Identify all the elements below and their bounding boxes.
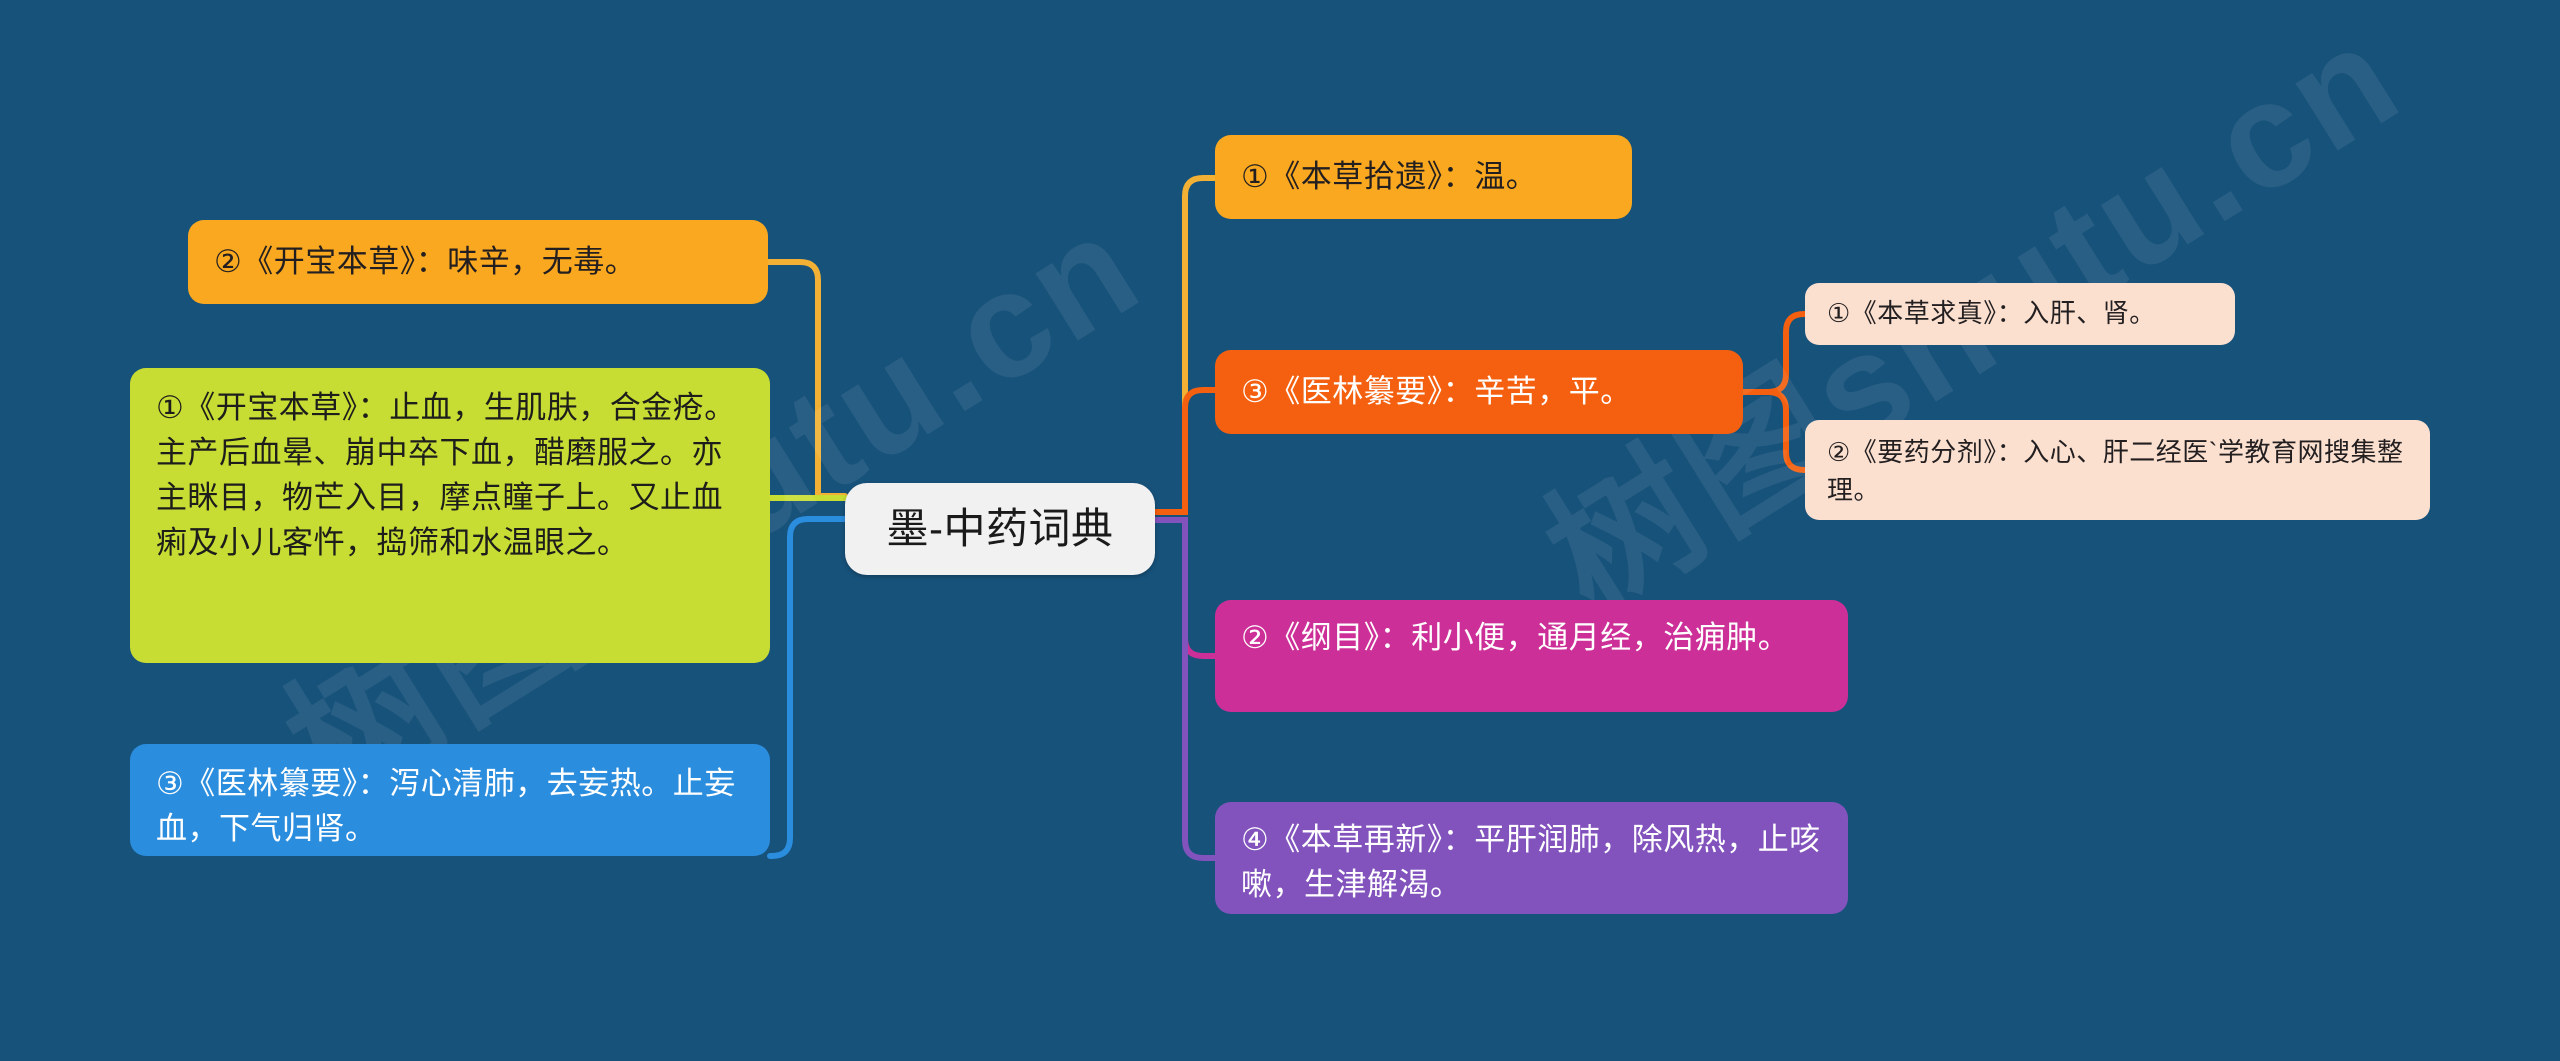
- node-left-blue[interactable]: ③《医林纂要》：泻心清肺，去妄热。止妄血，下气归肾。: [130, 744, 770, 856]
- root-node-label: 墨-中药词典: [845, 499, 1155, 560]
- connector-right-amber: [1152, 178, 1215, 512]
- node-left-amber[interactable]: ②《开宝本草》：味辛，无毒。: [188, 220, 768, 304]
- node-right-orange[interactable]: ③《医林纂要》：辛苦，平。: [1215, 350, 1743, 434]
- node-right-pink-1-label: ①《本草求真》：入肝、肾。: [1827, 295, 2213, 333]
- node-right-pink-1[interactable]: ①《本草求真》：入肝、肾。: [1805, 283, 2235, 345]
- node-right-purple-label: ④《本草再新》：平肝润肺，除风热，止咳嗽，生津解渴。: [1241, 818, 1822, 908]
- node-right-magenta[interactable]: ②《纲目》：利小便，通月经，治痈肿。: [1215, 600, 1848, 712]
- mindmap-canvas: 树图shutu.cn 树图shutu.cn 墨-中药词典 ②《开宝本草》：味辛，…: [0, 0, 2560, 1061]
- node-right-pink-2[interactable]: ②《要药分剂》：入心、肝二经医`学教育网搜集整理。: [1805, 420, 2430, 520]
- node-right-pink-2-label: ②《要药分剂》：入心、肝二经医`学教育网搜集整理。: [1827, 434, 2408, 509]
- connector-left-blue: [770, 519, 845, 856]
- node-left-green[interactable]: ①《开宝本草》：止血，生肌肤，合金疮。主产后血晕、崩中卒下血，醋磨服之。亦主眯目…: [130, 368, 770, 663]
- node-right-magenta-label: ②《纲目》：利小便，通月经，治痈肿。: [1241, 616, 1822, 661]
- node-left-blue-label: ③《医林纂要》：泻心清肺，去妄热。止妄血，下气归肾。: [156, 762, 744, 852]
- node-right-amber[interactable]: ①《本草拾遗》：温。: [1215, 135, 1632, 219]
- connector-right-purple: [1152, 520, 1215, 858]
- node-right-purple[interactable]: ④《本草再新》：平肝润肺，除风热，止咳嗽，生津解渴。: [1215, 802, 1848, 914]
- node-left-amber-label: ②《开宝本草》：味辛，无毒。: [214, 240, 742, 285]
- connector-left-amber: [765, 262, 845, 496]
- connector-right-magenta: [1152, 520, 1215, 656]
- root-node[interactable]: 墨-中药词典: [845, 483, 1155, 575]
- node-right-orange-label: ③《医林纂要》：辛苦，平。: [1241, 370, 1717, 415]
- node-left-green-label: ①《开宝本草》：止血，生肌肤，合金疮。主产后血晕、崩中卒下血，醋磨服之。亦主眯目…: [156, 386, 744, 566]
- connector-right-orange: [1152, 390, 1215, 512]
- node-right-amber-label: ①《本草拾遗》：温。: [1241, 155, 1606, 200]
